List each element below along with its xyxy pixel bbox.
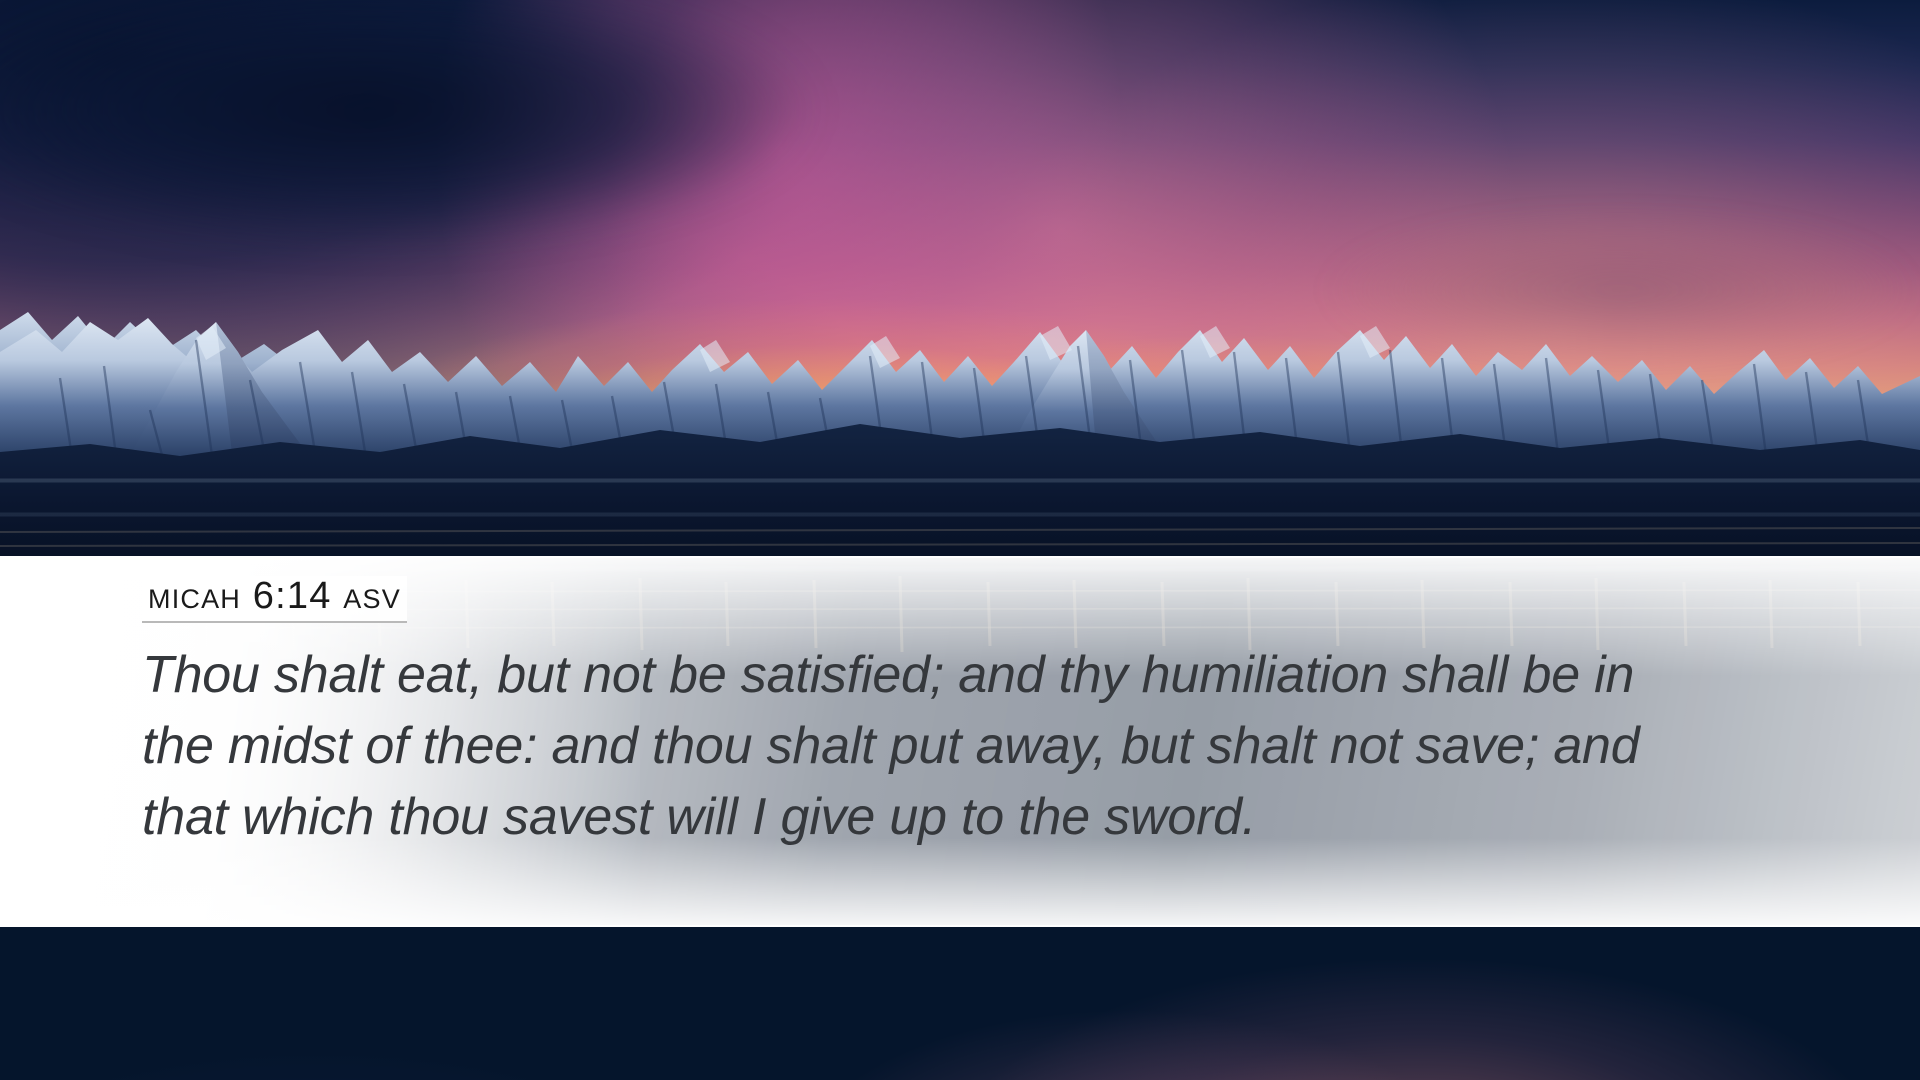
verse-reference: Micah 6:14 ASV bbox=[142, 576, 407, 623]
wallpaper-canvas: Micah 6:14 ASV Thou shalt eat, but not b… bbox=[0, 0, 1920, 1080]
verse-content: Micah 6:14 ASV Thou shalt eat, but not b… bbox=[142, 576, 1832, 853]
verse-text: Thou shalt eat, but not be satisfied; an… bbox=[142, 640, 1702, 853]
